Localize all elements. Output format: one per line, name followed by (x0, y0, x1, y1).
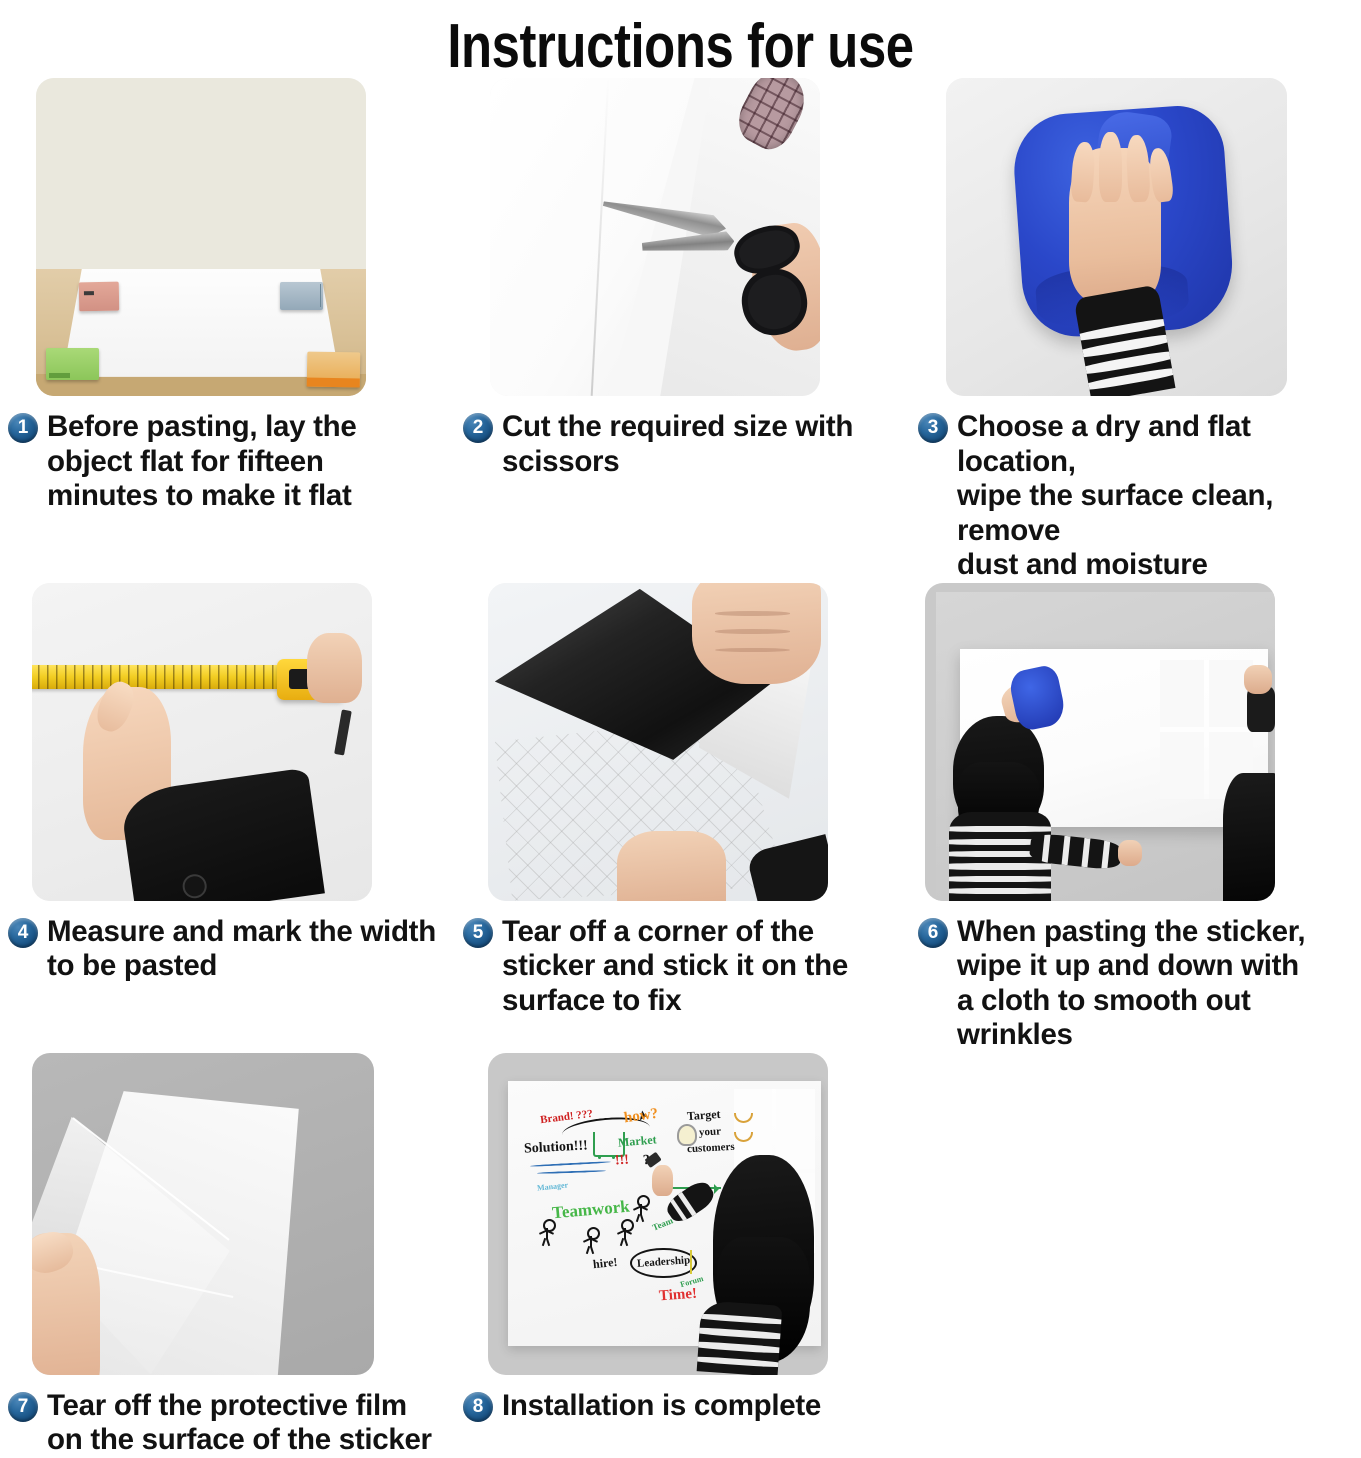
photo-peeling-protective-film (32, 1053, 374, 1375)
note-time: Time! (658, 1286, 697, 1306)
page-title: Instructions for use (122, 0, 1238, 78)
second-person-hand (1244, 665, 1272, 694)
step-card-7: 7 Tear off the protective film on the su… (0, 1053, 455, 1458)
step-card-8: Brand! ??? Solution!!! how? Market !!! ?… (455, 1053, 910, 1458)
instruction-infographic: Instructions for use 1 Before pasting, l… (0, 0, 1361, 1449)
step-caption-6: 6 When pasting the sticker, wipe it up a… (918, 915, 1361, 1053)
photo-desk-with-flattened-sheet (36, 78, 366, 396)
step-caption-7: 7 Tear off the protective film on the su… (8, 1389, 455, 1458)
step-card-6: 6 When pasting the sticker, wipe it up a… (910, 583, 1361, 1053)
step-text-5: Tear off a corner of the sticker and sti… (502, 915, 848, 1019)
step-number-badge-3: 3 (918, 413, 948, 443)
step-text-2: Cut the required size with scissors (502, 410, 853, 479)
steps-grid: 1 Before pasting, lay the object flat fo… (0, 78, 1361, 1458)
step-caption-2: 2 Cut the required size with scissors (463, 410, 910, 479)
photo-tape-measure-on-wall (32, 583, 372, 901)
step-number-badge-1: 1 (8, 413, 38, 443)
note-solution: Solution!!! (524, 1138, 589, 1157)
photo-scissors-cutting-sheet (490, 78, 820, 396)
finger (1099, 132, 1121, 202)
photo-two-people-applying-board (925, 583, 1275, 901)
right-hand (307, 633, 361, 703)
step-text-6: When pasting the sticker, wipe it up and… (957, 915, 1305, 1053)
step-number-badge-8: 8 (463, 1392, 493, 1422)
step-number-badge-5: 5 (463, 918, 493, 948)
note-exclamations: !!! (614, 1152, 629, 1169)
step-text-3: Choose a dry and flat location, wipe the… (957, 410, 1355, 583)
step-card-1: 1 Before pasting, lay the object flat fo… (0, 78, 455, 583)
step-number-badge-7: 7 (8, 1392, 38, 1422)
second-person-sleeve (1247, 687, 1275, 732)
photo-peeling-sticker-corner (488, 583, 828, 901)
photo-hand-wiping-wall-with-blue-towel (946, 78, 1287, 396)
stick-figure (621, 1219, 634, 1232)
hand (652, 1165, 673, 1196)
step-number-badge-4: 4 (8, 918, 38, 948)
blue-notebook (280, 282, 323, 311)
step-number-badge-6: 6 (918, 918, 948, 948)
step-card-2: 2 Cut the required size with scissors (455, 78, 910, 583)
step-caption-5: 5 Tear off a corner of the sticker and s… (463, 915, 910, 1019)
lower-hand (617, 831, 726, 901)
step-card-5: 5 Tear off a corner of the sticker and s… (455, 583, 910, 1053)
step-card-4: 4 Measure and mark the width to be paste… (0, 583, 455, 1053)
orange-notebook (306, 351, 359, 387)
step-caption-1: 1 Before pasting, lay the object flat fo… (8, 410, 455, 514)
woman-writing (706, 1136, 822, 1374)
striped-shirt (696, 1300, 782, 1374)
step-caption-4: 4 Measure and mark the width to be paste… (8, 915, 455, 984)
step-number-badge-2: 2 (463, 413, 493, 443)
step-text-8: Installation is complete (502, 1389, 821, 1424)
note-hire: hire! (592, 1254, 618, 1271)
stick-figure (587, 1227, 600, 1240)
upper-hand (692, 583, 821, 685)
step-caption-8: 8 Installation is complete (463, 1389, 910, 1424)
note-target: Target (686, 1107, 721, 1124)
green-notebook (46, 348, 99, 380)
photo-finished-whiteboard-with-notes: Brand! ??? Solution!!! how? Market !!! ?… (488, 1053, 828, 1375)
blue-underline (530, 1161, 611, 1167)
step-text-1: Before pasting, lay the object flat for … (47, 410, 356, 514)
step-card-3: 3 Choose a dry and flat location, wipe t… (910, 78, 1361, 583)
note-teamwork: Teamwork (551, 1197, 630, 1224)
second-person (1223, 773, 1276, 900)
blue-underline (537, 1170, 606, 1174)
step-text-7: Tear off the protective film on the surf… (47, 1389, 432, 1458)
note-market: Market (617, 1133, 657, 1151)
note-manager: Manager (536, 1180, 568, 1192)
woman-applying-board (953, 716, 1044, 900)
stick-figure (637, 1195, 650, 1208)
empty-cell (910, 1053, 1361, 1458)
woman-lower-hand (1118, 840, 1143, 865)
pink-notebook (79, 281, 119, 310)
step-text-4: Measure and mark the width to be pasted (47, 915, 436, 984)
note-how: how? (623, 1106, 659, 1128)
yellow-tape-measure-blade (32, 665, 307, 689)
step-caption-3: 3 Choose a dry and flat location, wipe t… (918, 410, 1361, 583)
